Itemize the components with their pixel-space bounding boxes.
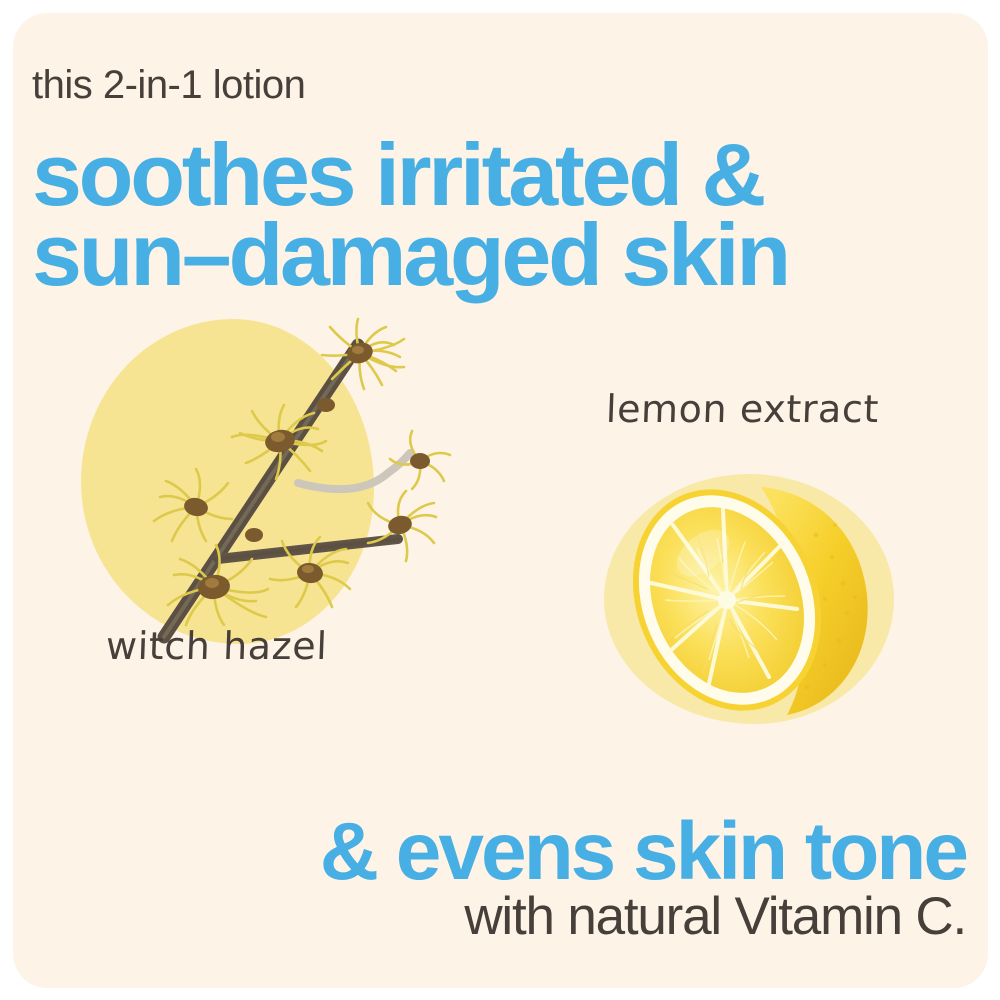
- promo-card: this 2-in-1 lotion soothes irritated & s…: [13, 13, 988, 988]
- footer-subtext: with natural Vitamin C.: [464, 886, 966, 947]
- witch-hazel-image: [68, 301, 468, 671]
- headline-line-2: sun–damaged skin: [32, 204, 788, 306]
- footer-headline: & evens skin tone: [320, 805, 966, 899]
- lemon-extract-label: lemon extract: [605, 387, 880, 431]
- eyebrow-text: this 2-in-1 lotion: [32, 63, 305, 108]
- lemon-image: [611, 465, 891, 733]
- witch-hazel-label: witch hazel: [105, 624, 328, 668]
